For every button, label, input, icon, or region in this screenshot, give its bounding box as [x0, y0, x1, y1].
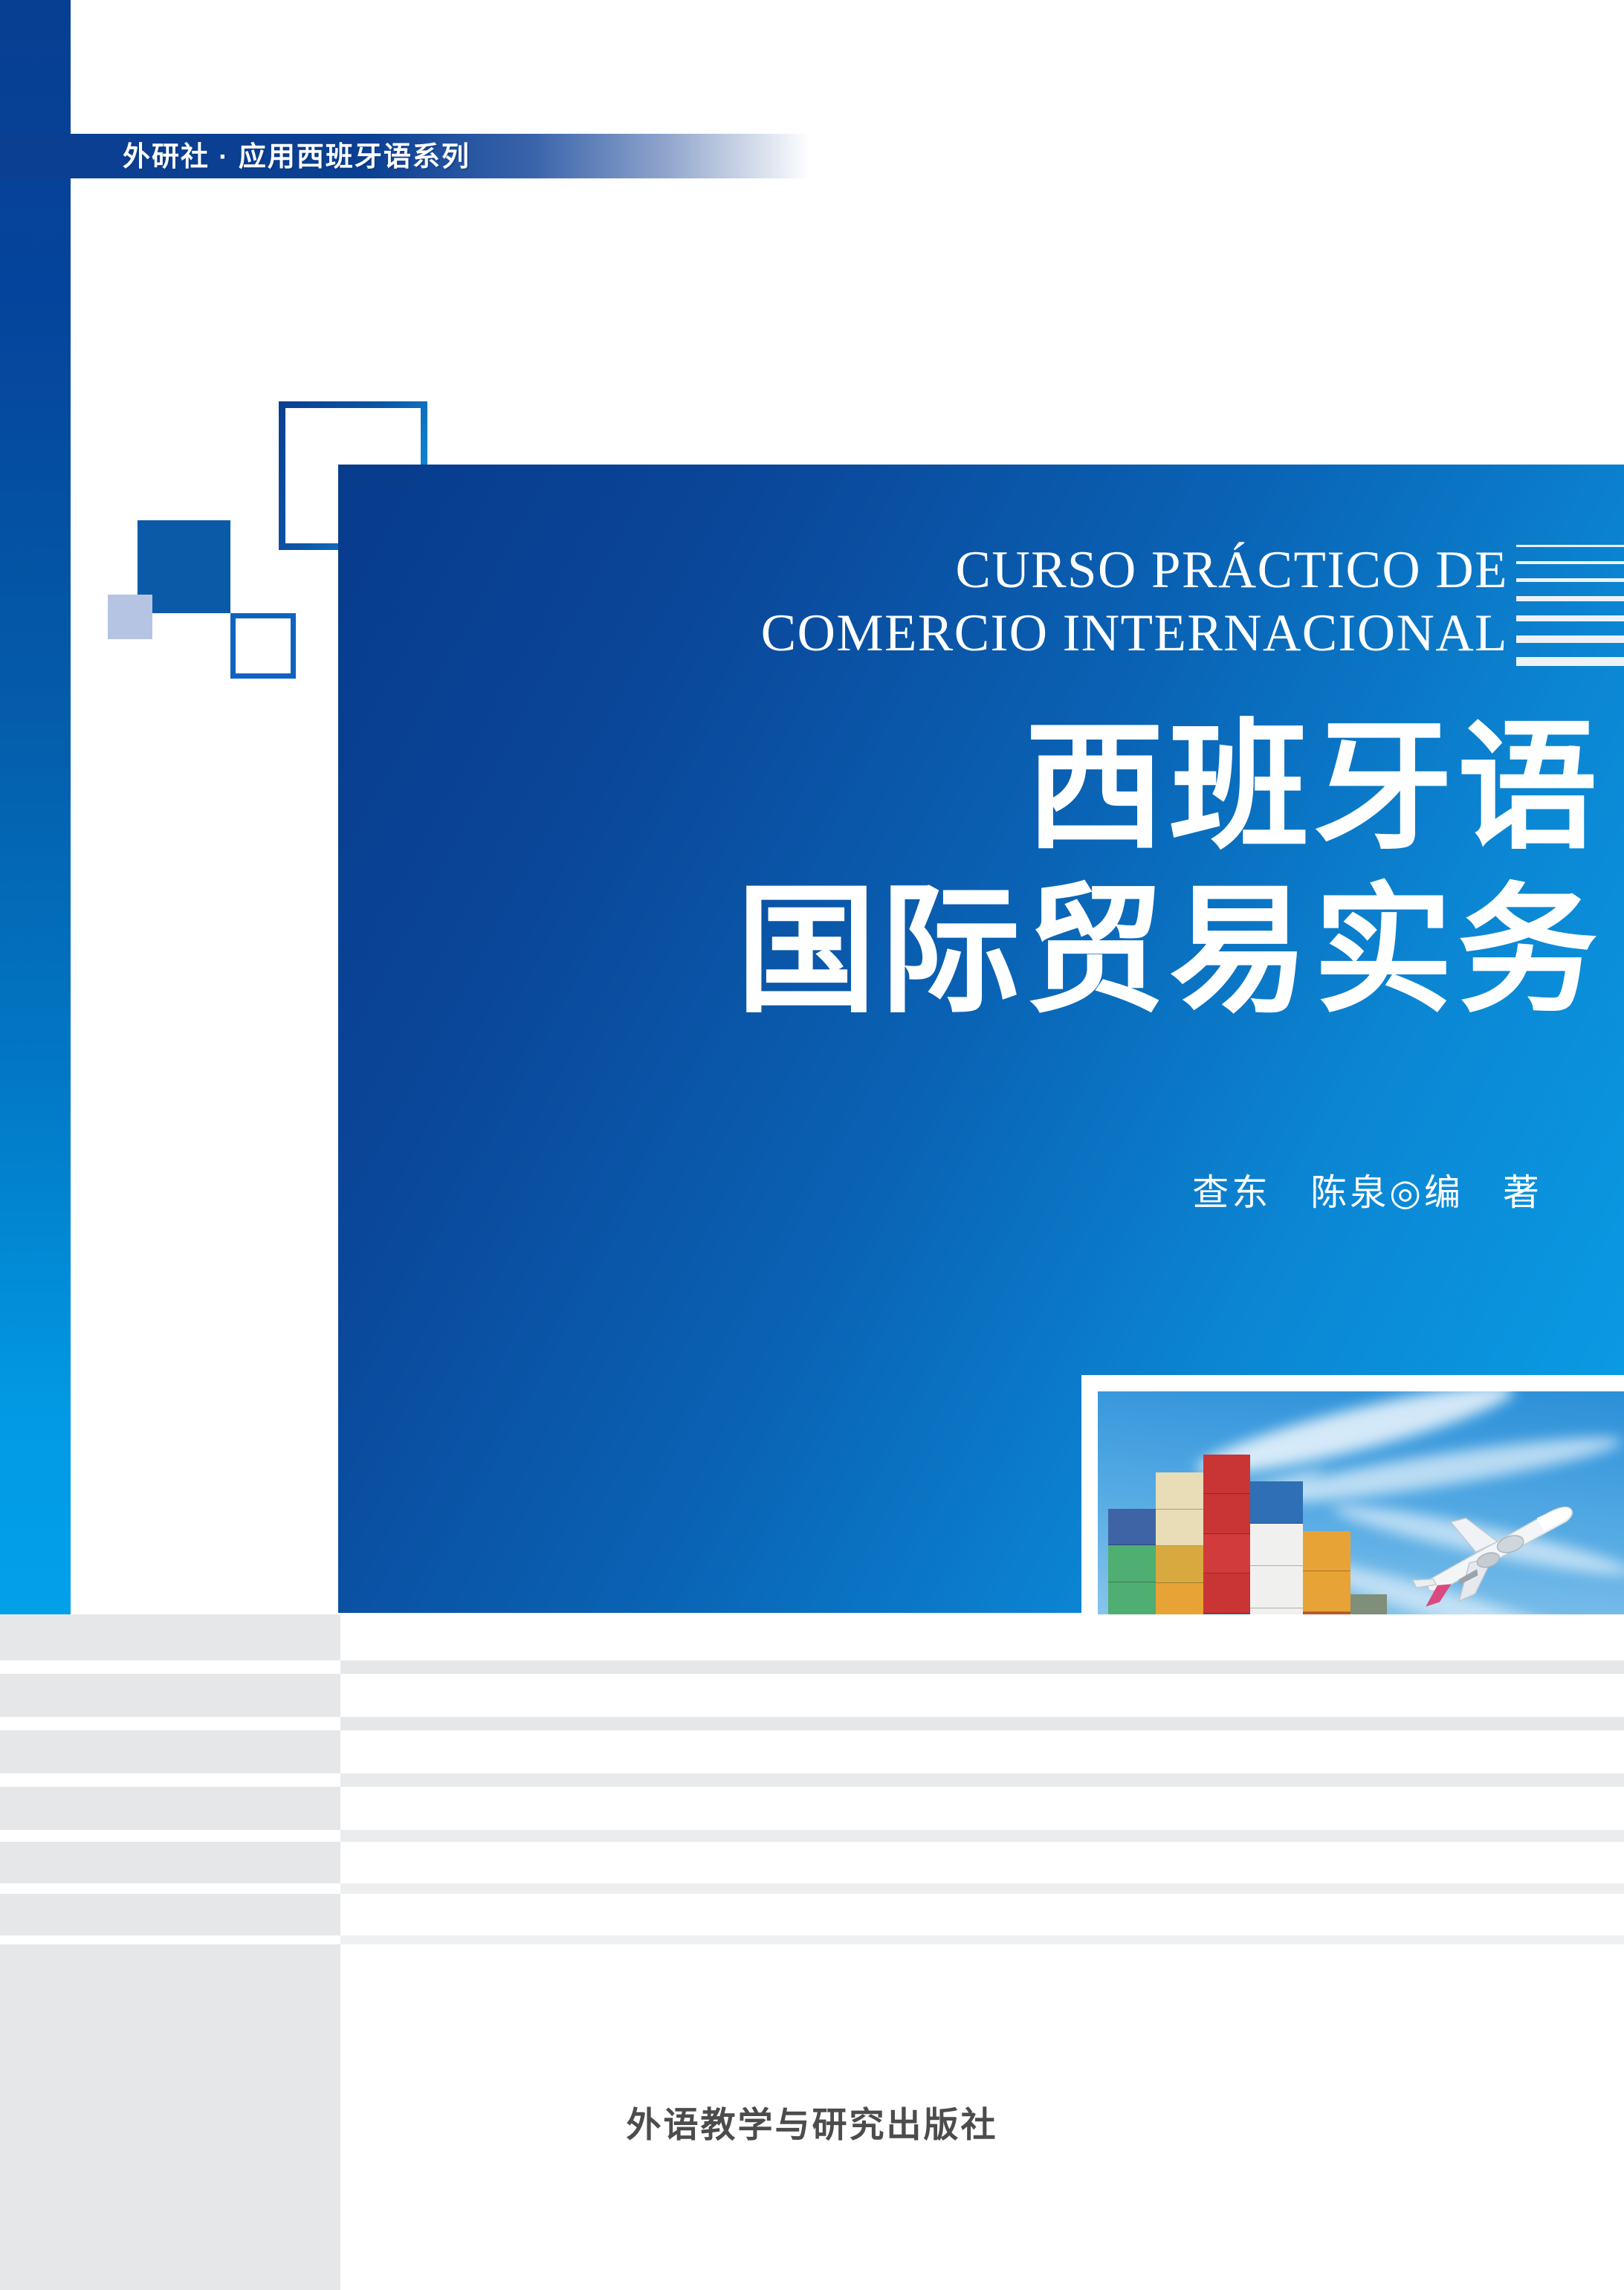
band-left-segment [0, 1787, 340, 1830]
shipping-container [1203, 1534, 1251, 1574]
band-row [0, 1894, 1624, 1935]
shipping-container [1156, 1472, 1203, 1509]
band-right-segment [340, 1830, 1624, 1842]
decor-pale-square [108, 595, 152, 639]
band-left-segment [0, 1944, 340, 1985]
band-left-segment [0, 1935, 340, 1944]
chinese-title: 西班牙语 国际贸易实务 [338, 706, 1602, 1033]
series-banner-label: 外研社 · 应用西班牙语系列 [123, 138, 470, 176]
band-left-segment [0, 1830, 340, 1842]
band-left-segment [0, 1674, 340, 1717]
shipping-container [1108, 1509, 1156, 1546]
title-panel: CURSO PRÁCTICO DE COMERCIO INTERNACIONAL… [338, 465, 1624, 1613]
decor-rules-group [1516, 545, 1624, 680]
band-left-segment [0, 1842, 340, 1883]
band-row [0, 1944, 1624, 1985]
left-gradient-spine [0, 0, 71, 1614]
band-right-segment [340, 1614, 1624, 1660]
band-left-segment [0, 1883, 340, 1894]
decor-rule [1516, 578, 1624, 582]
band-row [0, 1614, 1624, 1660]
band-right-segment [340, 1717, 1624, 1730]
decor-outline-square-small [230, 613, 296, 679]
band-row [0, 1717, 1624, 1730]
band-right-segment [340, 1944, 1624, 1985]
band-right-segment [340, 1883, 1624, 1894]
author-line: 查东 陈泉◎编 著 [1192, 1163, 1542, 1216]
shipping-container [1303, 1571, 1350, 1612]
band-row [0, 1730, 1624, 1773]
band-row [0, 1883, 1624, 1894]
shipping-container [1108, 1545, 1156, 1582]
bottom-band-pattern [0, 1614, 1624, 2290]
spanish-title-line-1: CURSO PRÁCTICO DE [338, 539, 1508, 602]
decor-rule [1516, 561, 1624, 564]
shipping-container [1203, 1494, 1251, 1534]
band-left-segment [0, 1894, 340, 1935]
shipping-container [1203, 1573, 1251, 1614]
band-left-segment [0, 1717, 340, 1730]
band-right-segment [340, 1935, 1624, 1944]
band-row [0, 1935, 1624, 1944]
shipping-container [1303, 1531, 1350, 1572]
band-right-segment [340, 1894, 1624, 1935]
decor-rule [1516, 596, 1624, 601]
band-right-segment [340, 1660, 1624, 1674]
band-right-segment [340, 1842, 1624, 1883]
band-row [0, 1830, 1624, 1842]
band-left-segment [0, 1660, 340, 1674]
publisher-name: 外语教学与研究出版社 [0, 2096, 1624, 2147]
band-row [0, 1674, 1624, 1717]
spanish-title: CURSO PRÁCTICO DE COMERCIO INTERNACIONAL [338, 539, 1514, 665]
cargo-airplane-icon [1376, 1481, 1608, 1617]
decor-rule [1516, 615, 1624, 621]
band-right-segment [340, 1787, 1624, 1830]
shipping-container [1250, 1481, 1303, 1524]
band-left-segment [0, 1730, 340, 1773]
band-row [0, 1787, 1624, 1830]
book-cover: 外研社 · 应用西班牙语系列 CURSO PRÁCTICO DE COMERCI… [0, 0, 1624, 2290]
band-row [0, 1660, 1624, 1674]
band-right-segment [340, 1730, 1624, 1773]
band-left-segment [0, 1614, 340, 1660]
chinese-title-line-2: 国际贸易实务 [338, 870, 1602, 1033]
spanish-title-line-2: COMERCIO INTERNACIONAL [338, 602, 1508, 665]
band-right-segment [340, 1773, 1624, 1787]
band-right-segment [340, 1674, 1624, 1717]
decor-rule [1516, 635, 1624, 643]
decor-rule [1516, 657, 1624, 666]
shipping-container [1156, 1510, 1203, 1546]
shipping-container [1250, 1566, 1303, 1608]
chinese-title-line-1: 西班牙语 [338, 706, 1602, 870]
band-left-segment [0, 1773, 340, 1787]
band-row [0, 1842, 1624, 1883]
shipping-container [1156, 1546, 1203, 1582]
shipping-container [1250, 1524, 1303, 1566]
decor-rule [1516, 545, 1624, 547]
shipping-container [1203, 1455, 1251, 1495]
band-row [0, 1773, 1624, 1787]
